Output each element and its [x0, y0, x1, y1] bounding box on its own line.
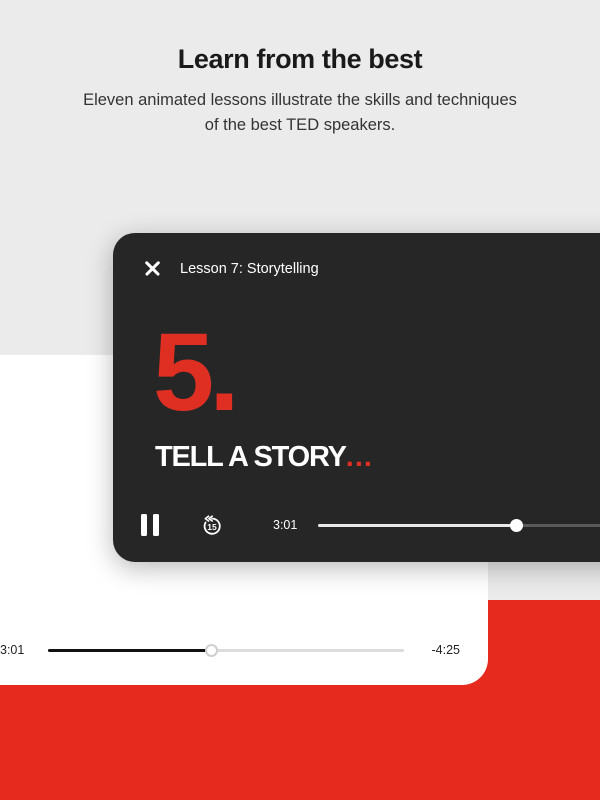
- app-screen: Learn from the best Eleven animated less…: [0, 0, 600, 800]
- video-progress-slider[interactable]: [318, 524, 600, 527]
- video-lesson-title: Lesson 7: Storytelling: [180, 261, 319, 277]
- lesson-progress-fill: [48, 649, 212, 652]
- lesson-progress-thumb[interactable]: [205, 644, 218, 657]
- lesson-elapsed-time: 3:01: [0, 643, 34, 657]
- lesson-progress-slider[interactable]: [48, 649, 404, 652]
- pause-bar-left: [141, 514, 147, 536]
- video-elapsed-time: 3:01: [273, 518, 297, 532]
- video-progress-fill: [318, 524, 516, 527]
- page-headline: Learn from the best: [0, 44, 600, 75]
- video-player-header: Lesson 7: Storytelling: [143, 259, 319, 278]
- page-subcopy: Eleven animated lessons illustrate the s…: [80, 88, 520, 138]
- video-controls: 15 3:01: [141, 510, 600, 540]
- pause-bar-right: [153, 514, 159, 536]
- close-icon[interactable]: [143, 259, 162, 278]
- video-player-card: Lesson 7: Storytelling 5. TELL A STORY..…: [113, 233, 600, 562]
- video-progress-thumb[interactable]: [510, 519, 523, 532]
- rewind-15-icon[interactable]: 15: [200, 513, 224, 537]
- rewind-15-label: 15: [200, 513, 224, 537]
- slide-title-text: TELL A STORY: [155, 441, 346, 473]
- pause-icon[interactable]: [141, 514, 161, 536]
- slide-number: 5.: [153, 318, 235, 428]
- lesson-card-player-bar: 3:01 -4:25: [0, 639, 460, 661]
- slide-title-ellipsis: ...: [346, 441, 373, 473]
- slide-title: TELL A STORY...: [155, 441, 373, 474]
- lesson-remaining-time: -4:25: [418, 643, 460, 657]
